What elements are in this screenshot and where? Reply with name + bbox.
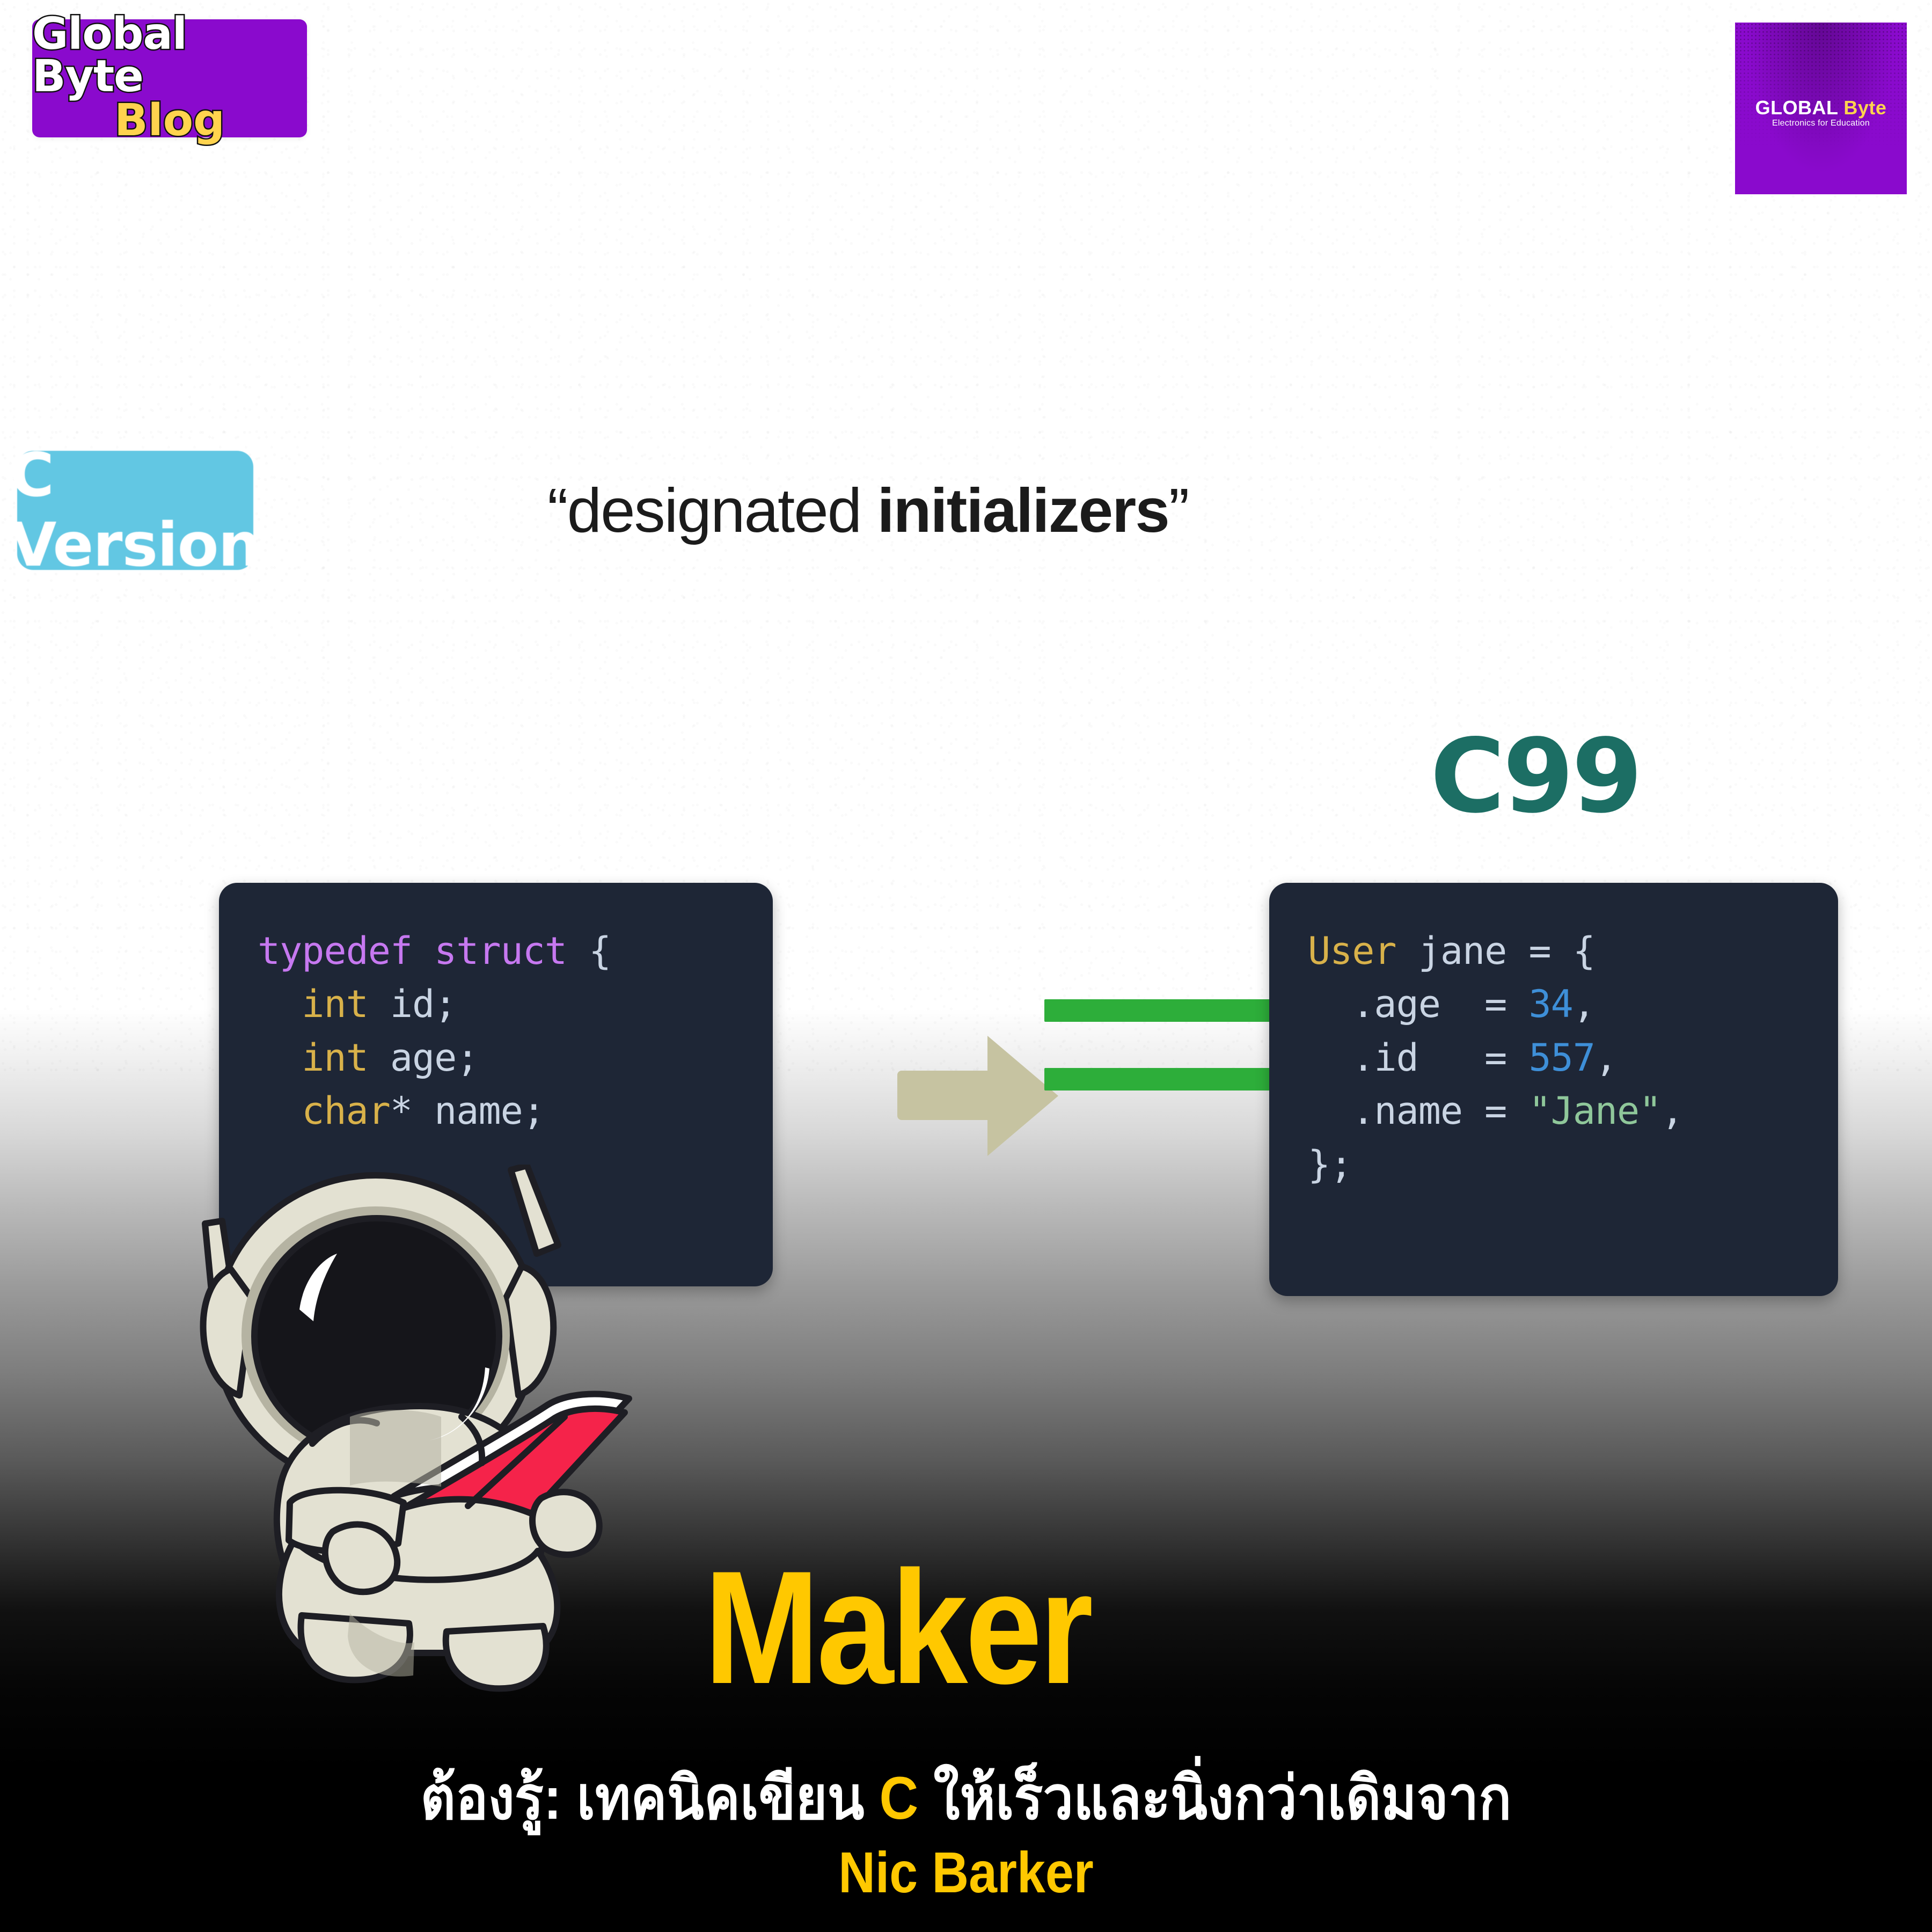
- brand-word-byte: Byte: [1843, 97, 1886, 119]
- code-line: .age = 34,: [1308, 978, 1838, 1031]
- code-token: jane = {: [1396, 929, 1595, 973]
- code-token: .id =: [1308, 1036, 1528, 1080]
- topic-quote: “designated initializers”: [547, 474, 1188, 546]
- footer-subline-highlight: C: [879, 1765, 918, 1832]
- footer-credit: Nic Barker: [116, 1841, 1816, 1905]
- code-line: User jane = {: [1308, 925, 1838, 978]
- code-line: typedef struct {: [258, 925, 773, 978]
- code-token: ,: [1595, 1036, 1617, 1080]
- c-version-badge-label: C Version: [10, 441, 260, 580]
- code-token: 557: [1528, 1036, 1594, 1080]
- code-token: .name =: [1308, 1089, 1528, 1133]
- blog-badge-line1: Global Byte: [32, 13, 307, 98]
- code-token: id;: [368, 982, 457, 1026]
- brand-wordmark: GLOBAL Byte Electronics for Education: [1755, 98, 1887, 128]
- code-token: };: [1308, 1143, 1352, 1187]
- code-token: age;: [368, 1036, 479, 1080]
- topic-quote-bold: initializers: [877, 475, 1168, 545]
- code-token: "Jane": [1528, 1089, 1661, 1133]
- code-token: int: [302, 1036, 368, 1080]
- footer-headline: Maker: [704, 1547, 1091, 1708]
- brand-logo-tile: GLOBAL Byte Electronics for Education: [1735, 23, 1907, 194]
- code-token: User: [1308, 929, 1396, 973]
- code-token: typedef struct: [258, 929, 589, 973]
- code-card-initializer-body: User jane = { .age = 34, .id = 557, .nam…: [1269, 883, 1838, 1191]
- code-token: int: [302, 982, 368, 1026]
- code-line: .name = "Jane",: [1308, 1085, 1838, 1138]
- topic-quote-prefix: “designated: [547, 475, 877, 545]
- code-token: [258, 1089, 302, 1133]
- highlight-bar-age: [1044, 999, 1279, 1022]
- code-token: [258, 982, 302, 1026]
- code-token: ,: [1661, 1089, 1683, 1133]
- code-token: [258, 1036, 302, 1080]
- highlight-bar-id: [1044, 1068, 1279, 1091]
- code-token: * name;: [390, 1089, 545, 1133]
- code-line: int id;: [258, 978, 773, 1031]
- code-line: int age;: [258, 1031, 773, 1085]
- code-line: .id = 557,: [1308, 1031, 1838, 1085]
- brand-tagline: Electronics for Education: [1755, 119, 1887, 128]
- code-token: .age =: [1308, 982, 1528, 1026]
- code-card-struct-body: typedef struct { int id; int age; char* …: [219, 883, 773, 1138]
- footer-subline: ต้องรู้: เทคนิคเขียน C ให้เร็วและนิ่งกว่…: [97, 1763, 1835, 1834]
- flow-arrow-shaft: [897, 1071, 996, 1120]
- code-line: char* name;: [258, 1085, 773, 1138]
- topic-quote-suffix: ”: [1169, 475, 1189, 545]
- code-token: {: [589, 929, 611, 973]
- blog-badge-line2: Blog: [114, 98, 225, 143]
- c-version-badge: C Version: [17, 451, 253, 570]
- code-token: 34: [1528, 982, 1572, 1026]
- footer-subline-after: ให้เร็วและนิ่งกว่าเดิมจาก: [918, 1765, 1511, 1832]
- code-token: char: [302, 1089, 390, 1133]
- c-standard-label: C99: [1430, 726, 1641, 828]
- flow-arrow-head: [987, 1036, 1058, 1156]
- footer-subline-before: ต้องรู้: เทคนิคเขียน: [421, 1765, 880, 1832]
- brand-word-global: GLOBAL: [1755, 97, 1844, 119]
- astronaut-mascot-icon: [189, 1165, 683, 1712]
- code-card-initializer: User jane = { .age = 34, .id = 557, .nam…: [1269, 883, 1838, 1296]
- code-line: };: [1308, 1138, 1838, 1191]
- blog-badge: Global Byte Blog: [32, 19, 307, 137]
- code-token: ,: [1573, 982, 1595, 1026]
- poster-canvas: Global Byte Blog GLOBAL Byte Electronics…: [0, 0, 1932, 1932]
